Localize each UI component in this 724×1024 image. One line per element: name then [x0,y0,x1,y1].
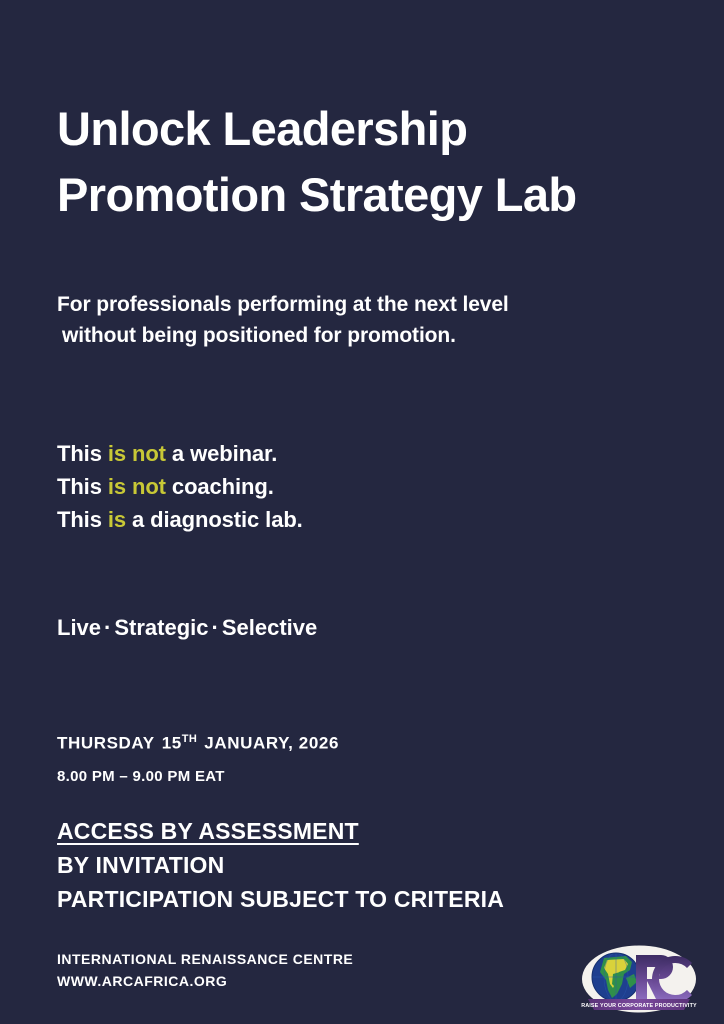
headline-line-1: Unlock Leadership [57,96,697,162]
statement-3-suffix: a diagnostic lab. [126,507,303,532]
globe-icon [592,953,640,1001]
attribute-separator-2: · [209,615,222,640]
subheadline-line-2: without being positioned for promotion. [57,320,697,351]
logo-tagline-banner: RAISE YOUR CORPORATE PRODUCTIVITY [581,999,697,1010]
event-datetime: THURSDAY15THJANUARY, 2026 8.00 PM – 9.00… [57,728,339,787]
event-date: THURSDAY15THJANUARY, 2026 [57,728,339,755]
statement-1-suffix: a webinar. [166,441,277,466]
event-month-year: JANUARY, 2026 [204,734,339,753]
statement-line-2: This is not coaching. [57,470,557,503]
statement-line-3: This is a diagnostic lab. [57,503,557,536]
event-weekday: THURSDAY [57,734,155,753]
attribute-selective: Selective [222,615,317,640]
attribute-separator-1: · [101,615,114,640]
event-day-ordinal: TH [182,733,197,745]
statement-2-suffix: coaching. [166,474,274,499]
subheadline-line-1: For professionals performing at the next… [57,289,697,320]
access-participation-criteria: PARTICIPATION SUBJECT TO CRITERIA [57,882,504,916]
event-day: 15 [162,734,182,753]
statement-3-highlight: is [108,507,126,532]
poster-canvas: Unlock Leadership Promotion Strategy Lab… [0,0,724,1024]
statement-2-prefix: This [57,474,108,499]
irc-logo: RAISE YOUR CORPORATE PRODUCTIVITY [580,944,698,1014]
access-by-invitation: BY INVITATION [57,848,504,882]
irc-logo-graphic: RAISE YOUR CORPORATE PRODUCTIVITY [580,944,698,1014]
statement-list: This is not a webinar. This is not coach… [57,437,557,536]
headline-line-2: Promotion Strategy Lab [57,162,697,228]
access-block: ACCESS BY ASSESSMENT BY INVITATION PARTI… [57,814,504,916]
statement-1-highlight: is not [108,441,166,466]
logo-tagline-text: RAISE YOUR CORPORATE PRODUCTIVITY [581,1003,697,1009]
access-by-assessment: ACCESS BY ASSESSMENT [57,814,504,848]
statement-1-prefix: This [57,441,108,466]
footer-website[interactable]: WWW.ARCAFRICA.ORG [57,970,353,992]
attribute-live: Live [57,615,101,640]
footer-organisation: INTERNATIONAL RENAISSANCE CENTRE [57,948,353,970]
statement-2-highlight: is not [108,474,166,499]
attributes-line: Live·Strategic·Selective [57,615,317,641]
statement-3-prefix: This [57,507,108,532]
page-title: Unlock Leadership Promotion Strategy Lab [57,96,697,228]
footer-block: INTERNATIONAL RENAISSANCE CENTRE WWW.ARC… [57,948,353,992]
statement-line-1: This is not a webinar. [57,437,557,470]
event-time: 8.00 PM – 9.00 PM EAT [57,767,339,787]
subheadline: For professionals performing at the next… [57,289,697,351]
attribute-strategic: Strategic [114,615,208,640]
